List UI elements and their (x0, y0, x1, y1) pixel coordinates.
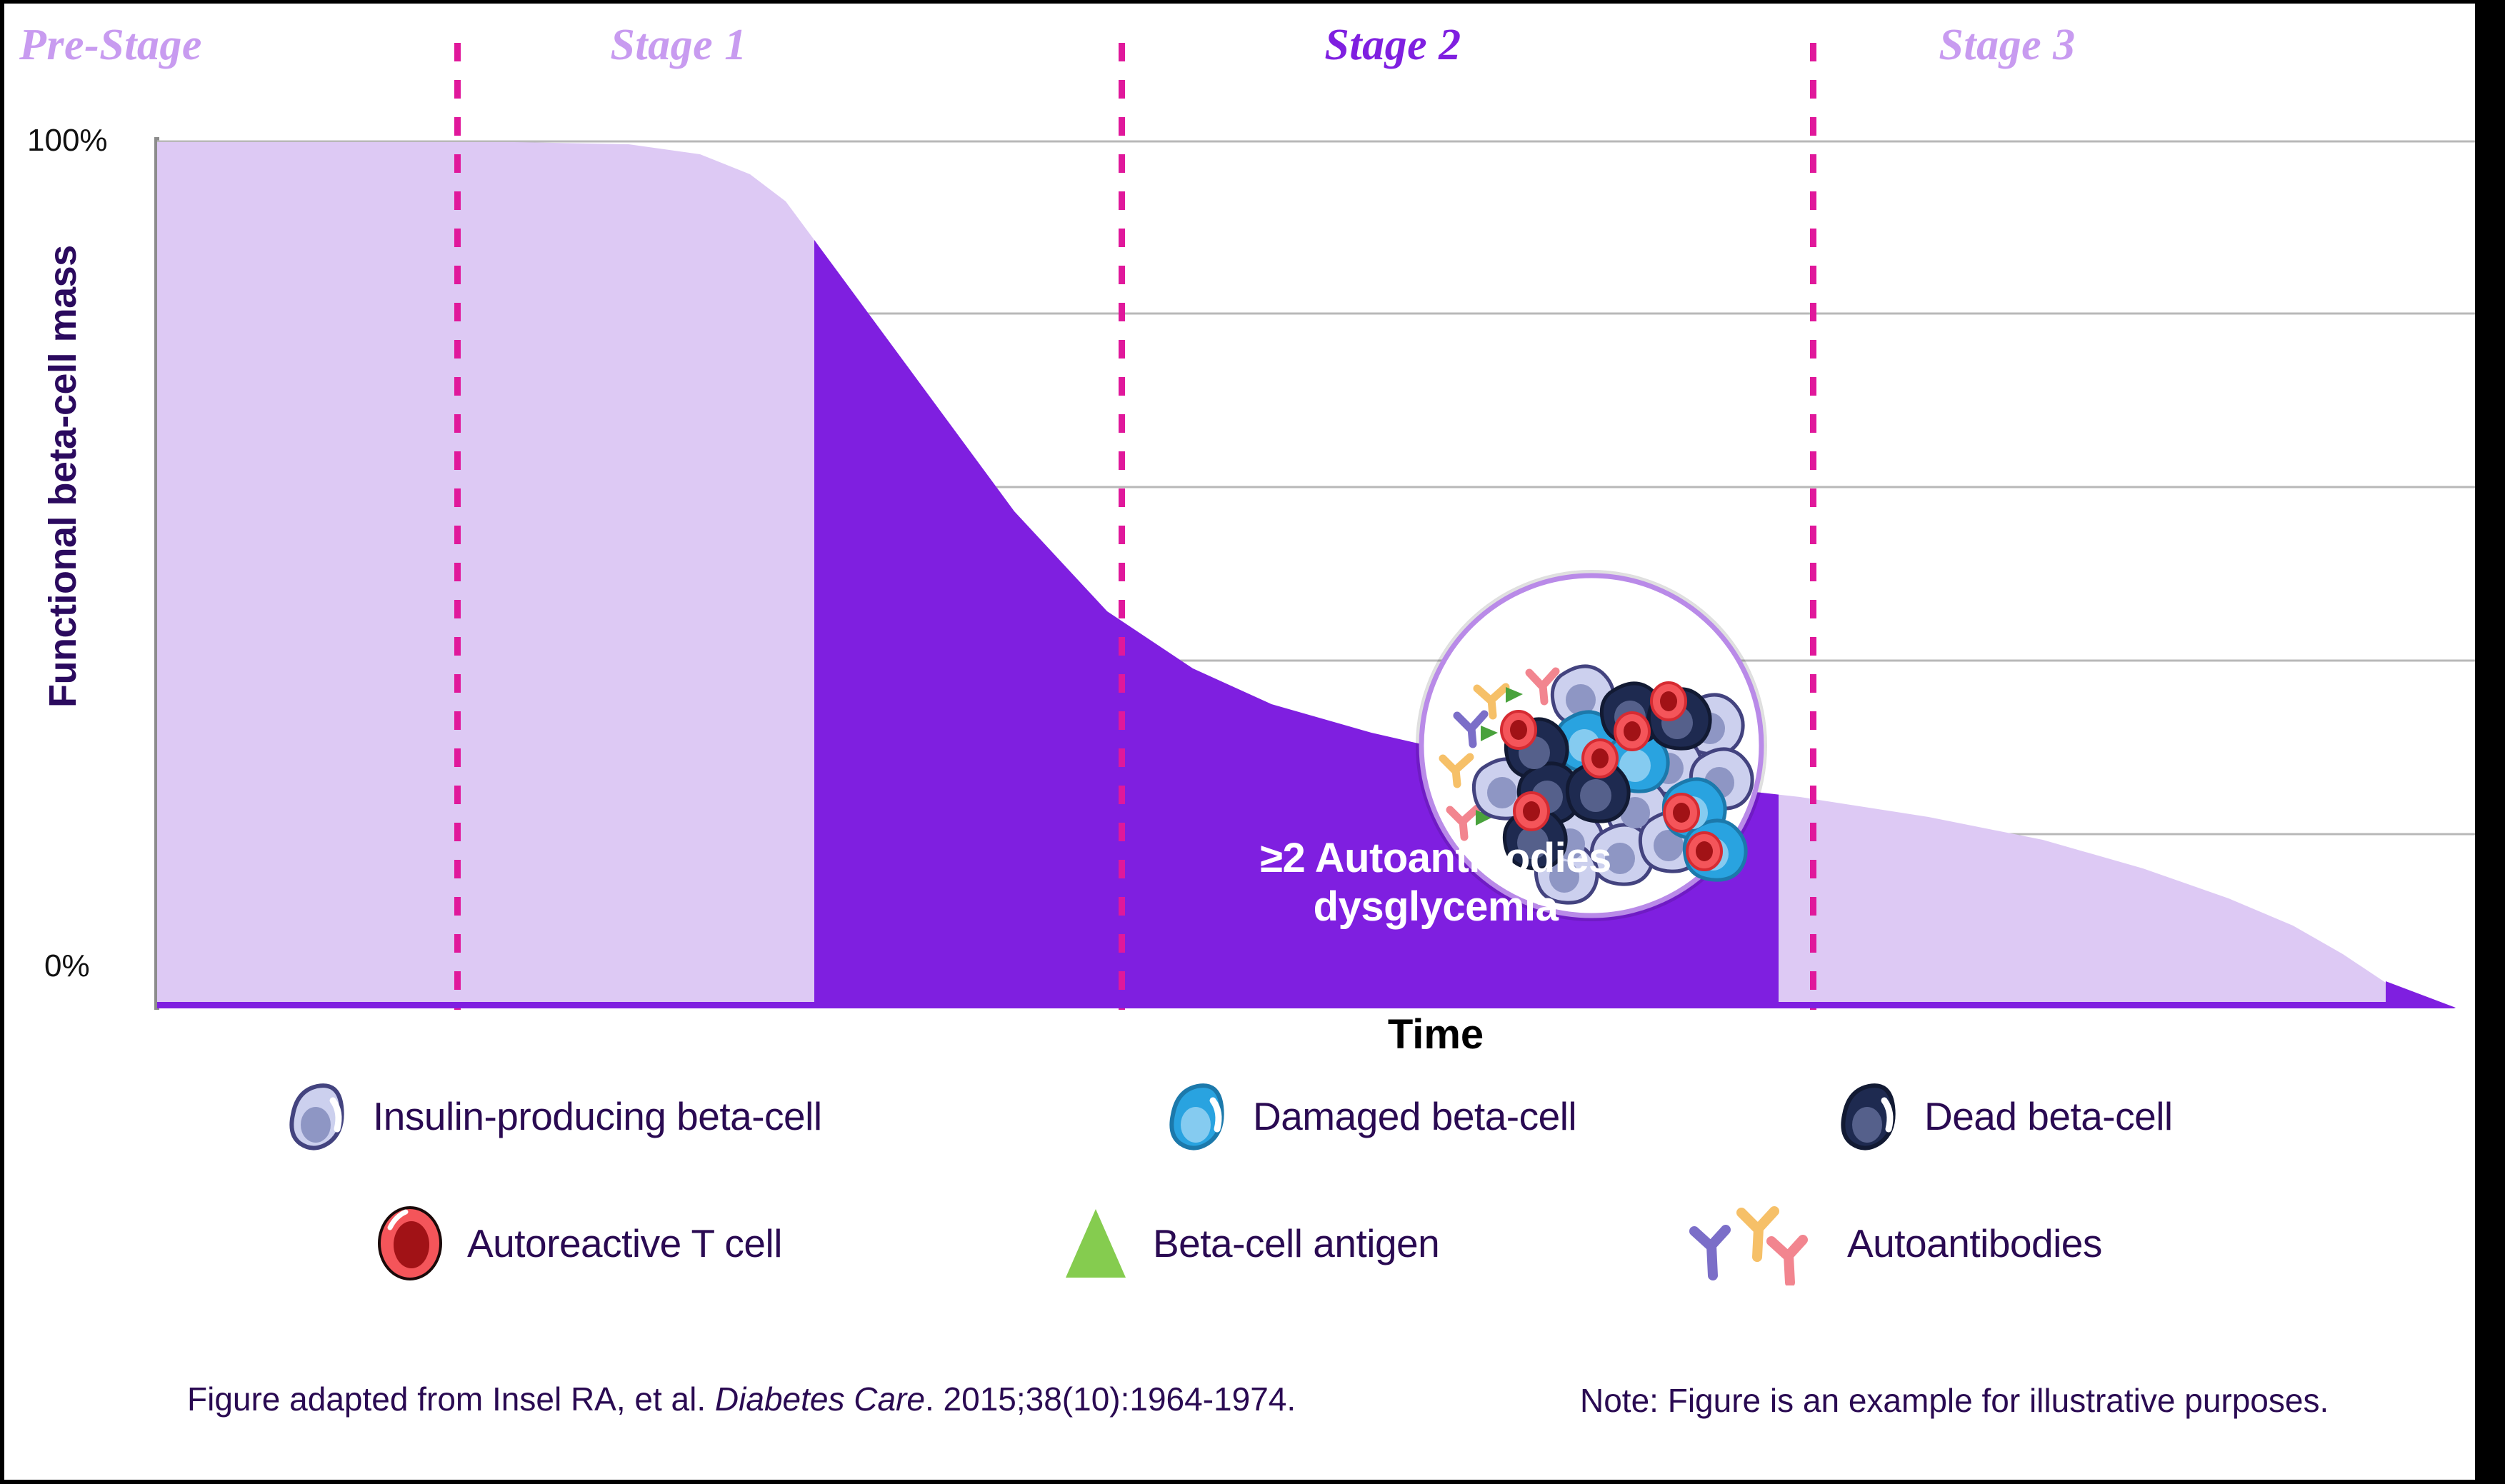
stage2-callout-line2: dysglycemia (1114, 883, 1757, 931)
dead-beta-cell-icon (1829, 1078, 1906, 1155)
beta-cell-icon (277, 1078, 354, 1155)
stage-label-stage-3: Stage 3 (1786, 20, 2229, 71)
stage-divider-pre-stage-1 (454, 43, 461, 1010)
illustrative-note: Note: Figure is an example for illustrat… (1580, 1381, 2329, 1420)
citation-journal: Diabetes Care (715, 1380, 925, 1418)
citation-prefix: Figure adapted from Insel RA, et al. (187, 1380, 715, 1418)
stage-header-band: Pre-Stage Stage 1 Stage 2 Stage 3 (0, 0, 2475, 129)
stage2-callout: ≥2 Autoantibodies dysglycemia (1114, 834, 1757, 932)
figure-source-citation: Figure adapted from Insel RA, et al. Dia… (187, 1380, 1296, 1418)
stage2-callout-line1: ≥2 Autoantibodies (1114, 834, 1757, 883)
stage-label-stage-2: Stage 2 (1171, 20, 1614, 71)
antigen-icon (1057, 1203, 1134, 1283)
legend-item-insulin-producing-beta-cell: Insulin-producing beta-cell (277, 1063, 822, 1170)
legend-row-2: Autoreactive T cell Beta-cell antigen (0, 1190, 2475, 1297)
legend-label-dead-beta-cell: Dead beta-cell (1924, 1093, 2173, 1139)
legend-item-autoantibodies: Autoantibodies (1686, 1190, 2102, 1297)
stage-label-pre-stage: Pre-Stage (0, 20, 221, 71)
legend-item-damaged-beta-cell: Damaged beta-cell (1157, 1063, 1576, 1170)
stage-divider-2-3 (1810, 43, 1816, 1010)
frame-edge-bottom (0, 1480, 2505, 1484)
autoantibody-icon (1686, 1201, 1829, 1285)
damaged-beta-cell-icon (1157, 1078, 1234, 1155)
t-cell-icon (371, 1203, 449, 1283)
legend-row-1: Insulin-producing beta-cell Damaged beta… (0, 1063, 2475, 1170)
footer: Figure adapted from Insel RA, et al. Dia… (0, 1380, 2475, 1444)
stage-label-stage-1: Stage 1 (457, 20, 900, 71)
y-tick-label-0: 0% (44, 948, 90, 984)
legend-item-autoreactive-t-cell: Autoreactive T cell (371, 1190, 782, 1297)
legend: Insulin-producing beta-cell Damaged beta… (0, 1063, 2475, 1327)
legend-label-insulin-producing-beta-cell: Insulin-producing beta-cell (373, 1093, 822, 1139)
legend-label-beta-cell-antigen: Beta-cell antigen (1153, 1220, 1439, 1266)
frame-edge-right (2475, 0, 2505, 1484)
x-axis-title: Time (1114, 1011, 1757, 1058)
figure-root: Pre-Stage Stage 1 Stage 2 Stage 3 100% 0… (0, 0, 2505, 1484)
legend-label-autoantibodies: Autoantibodies (1847, 1220, 2102, 1266)
citation-suffix: . 2015;38(10):1964-1974. (925, 1380, 1296, 1418)
legend-item-beta-cell-antigen: Beta-cell antigen (1057, 1190, 1439, 1297)
y-tick-label-100: 100% (27, 123, 108, 159)
y-axis-title: Functional beta-cell mass (41, 251, 85, 708)
legend-label-damaged-beta-cell: Damaged beta-cell (1253, 1093, 1576, 1139)
legend-item-dead-beta-cell: Dead beta-cell (1829, 1063, 2173, 1170)
legend-label-autoreactive-t-cell: Autoreactive T cell (467, 1220, 782, 1266)
